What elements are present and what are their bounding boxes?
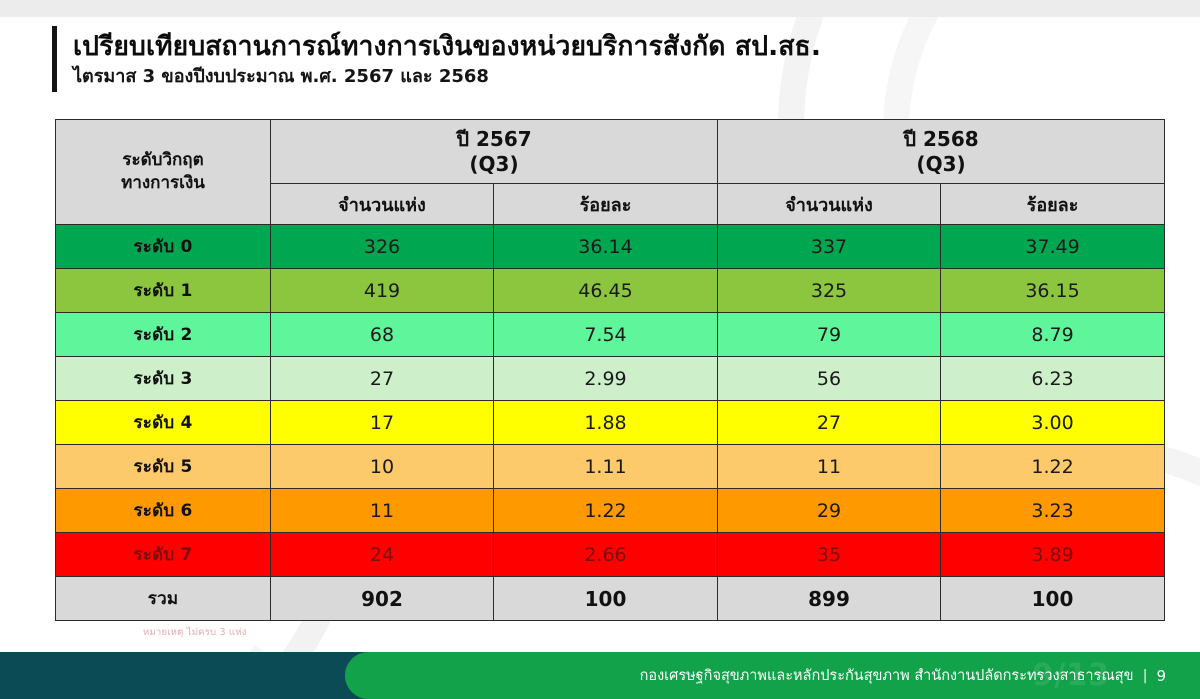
cell-count-2567: 326 [271,225,494,269]
table-footnote: หมายเหตุ ไม่ครบ 3 แห่ง [143,625,247,640]
cell-count-2567: 10 [271,445,494,489]
cell-crisis-level: ระดับ 0 [56,225,271,269]
cell-count-2567: 24 [271,533,494,577]
cell-pct-2568: 8.79 [941,313,1165,357]
table-body: ระดับ 032636.1433737.49ระดับ 141946.4532… [56,225,1165,621]
footer-page-number: 9 [1156,667,1166,685]
header-row-years: ระดับวิกฤต ทางการเงิน ปี 2567 (Q3) ปี 25… [56,120,1165,184]
cell-crisis-level: ระดับ 7 [56,533,271,577]
cell-pct-2567: 1.22 [494,489,718,533]
cell-pct-2568: 36.15 [941,269,1165,313]
cell-count-2568: 79 [718,313,941,357]
cell-count-2567: 17 [271,401,494,445]
top-strip [0,0,1200,17]
cell-pct-2567: 2.66 [494,533,718,577]
header-year-2568-line1: ปี 2568 [718,127,1164,152]
header-pct-2568: ร้อยละ [941,184,1165,225]
slide-footer: 9/13 กองเศรษฐกิจสุขภาพและหลักประกันสุขภา… [0,652,1200,699]
table-row: ระดับ 141946.4532536.15 [56,269,1165,313]
cell-total-label: รวม [56,577,271,621]
cell-pct-2567: 2.99 [494,357,718,401]
financial-crisis-table-wrap: ระดับวิกฤต ทางการเงิน ปี 2567 (Q3) ปี 25… [55,119,1164,621]
cell-count-2568: 325 [718,269,941,313]
slide-canvas: เปรียบเทียบสถานการณ์ทางการเงินของหน่วยบร… [0,0,1200,699]
header-crisis-level-line1: ระดับวิกฤต [56,149,270,172]
cell-total-count-2567: 902 [271,577,494,621]
table-row: ระดับ 5101.11111.22 [56,445,1165,489]
cell-crisis-level: ระดับ 1 [56,269,271,313]
header-crisis-level-line2: ทางการเงิน [56,172,270,195]
header-pct-2567: ร้อยละ [494,184,718,225]
header-count-2567: จำนวนแห่ง [271,184,494,225]
cell-total-count-2568: 899 [718,577,941,621]
footer-text-group: กองเศรษฐกิจสุขภาพและหลักประกันสุขภาพ สำน… [640,652,1166,699]
cell-total-pct-2568: 100 [941,577,1165,621]
page-subtitle: ไตรมาส 3 ของปีงบประมาณ พ.ศ. 2567 และ 256… [73,66,821,88]
table-row: ระดับ 7242.66353.89 [56,533,1165,577]
footer-organization: กองเศรษฐกิจสุขภาพและหลักประกันสุขภาพ สำน… [640,664,1134,687]
cell-count-2567: 419 [271,269,494,313]
table-row: ระดับ 4171.88273.00 [56,401,1165,445]
header-count-2568: จำนวนแห่ง [718,184,941,225]
header-year-2568-line2: (Q3) [718,152,1164,177]
cell-pct-2567: 36.14 [494,225,718,269]
header-year-2567-line1: ปี 2567 [271,127,717,152]
cell-count-2568: 27 [718,401,941,445]
cell-crisis-level: ระดับ 4 [56,401,271,445]
table-head: ระดับวิกฤต ทางการเงิน ปี 2567 (Q3) ปี 25… [56,120,1165,225]
cell-count-2568: 11 [718,445,941,489]
header-year-2567-line2: (Q3) [271,152,717,177]
page-title: เปรียบเทียบสถานการณ์ทางการเงินของหน่วยบร… [73,31,821,62]
cell-pct-2568: 3.23 [941,489,1165,533]
cell-pct-2568: 3.89 [941,533,1165,577]
table-row: ระดับ 3272.99566.23 [56,357,1165,401]
cell-crisis-level: ระดับ 5 [56,445,271,489]
cell-count-2568: 337 [718,225,941,269]
cell-pct-2568: 6.23 [941,357,1165,401]
cell-pct-2568: 37.49 [941,225,1165,269]
header-year-2568: ปี 2568 (Q3) [718,120,1165,184]
cell-count-2567: 68 [271,313,494,357]
cell-total-pct-2567: 100 [494,577,718,621]
cell-count-2568: 56 [718,357,941,401]
cell-pct-2567: 46.45 [494,269,718,313]
cell-crisis-level: ระดับ 2 [56,313,271,357]
cell-crisis-level: ระดับ 6 [56,489,271,533]
cell-count-2567: 11 [271,489,494,533]
cell-count-2567: 27 [271,357,494,401]
header-year-2567: ปี 2567 (Q3) [271,120,718,184]
footer-divider: | [1143,668,1148,684]
table-row: ระดับ 2687.54798.79 [56,313,1165,357]
cell-pct-2568: 1.22 [941,445,1165,489]
cell-pct-2567: 7.54 [494,313,718,357]
title-block: เปรียบเทียบสถานการณ์ทางการเงินของหน่วยบร… [52,26,821,92]
header-crisis-level: ระดับวิกฤต ทางการเงิน [56,120,271,225]
cell-pct-2567: 1.88 [494,401,718,445]
cell-pct-2568: 3.00 [941,401,1165,445]
cell-count-2568: 29 [718,489,941,533]
financial-crisis-table: ระดับวิกฤต ทางการเงิน ปี 2567 (Q3) ปี 25… [55,119,1165,621]
table-total-row: รวม902100899100 [56,577,1165,621]
table-row: ระดับ 6111.22293.23 [56,489,1165,533]
cell-count-2568: 35 [718,533,941,577]
cell-pct-2567: 1.11 [494,445,718,489]
cell-crisis-level: ระดับ 3 [56,357,271,401]
table-row: ระดับ 032636.1433737.49 [56,225,1165,269]
